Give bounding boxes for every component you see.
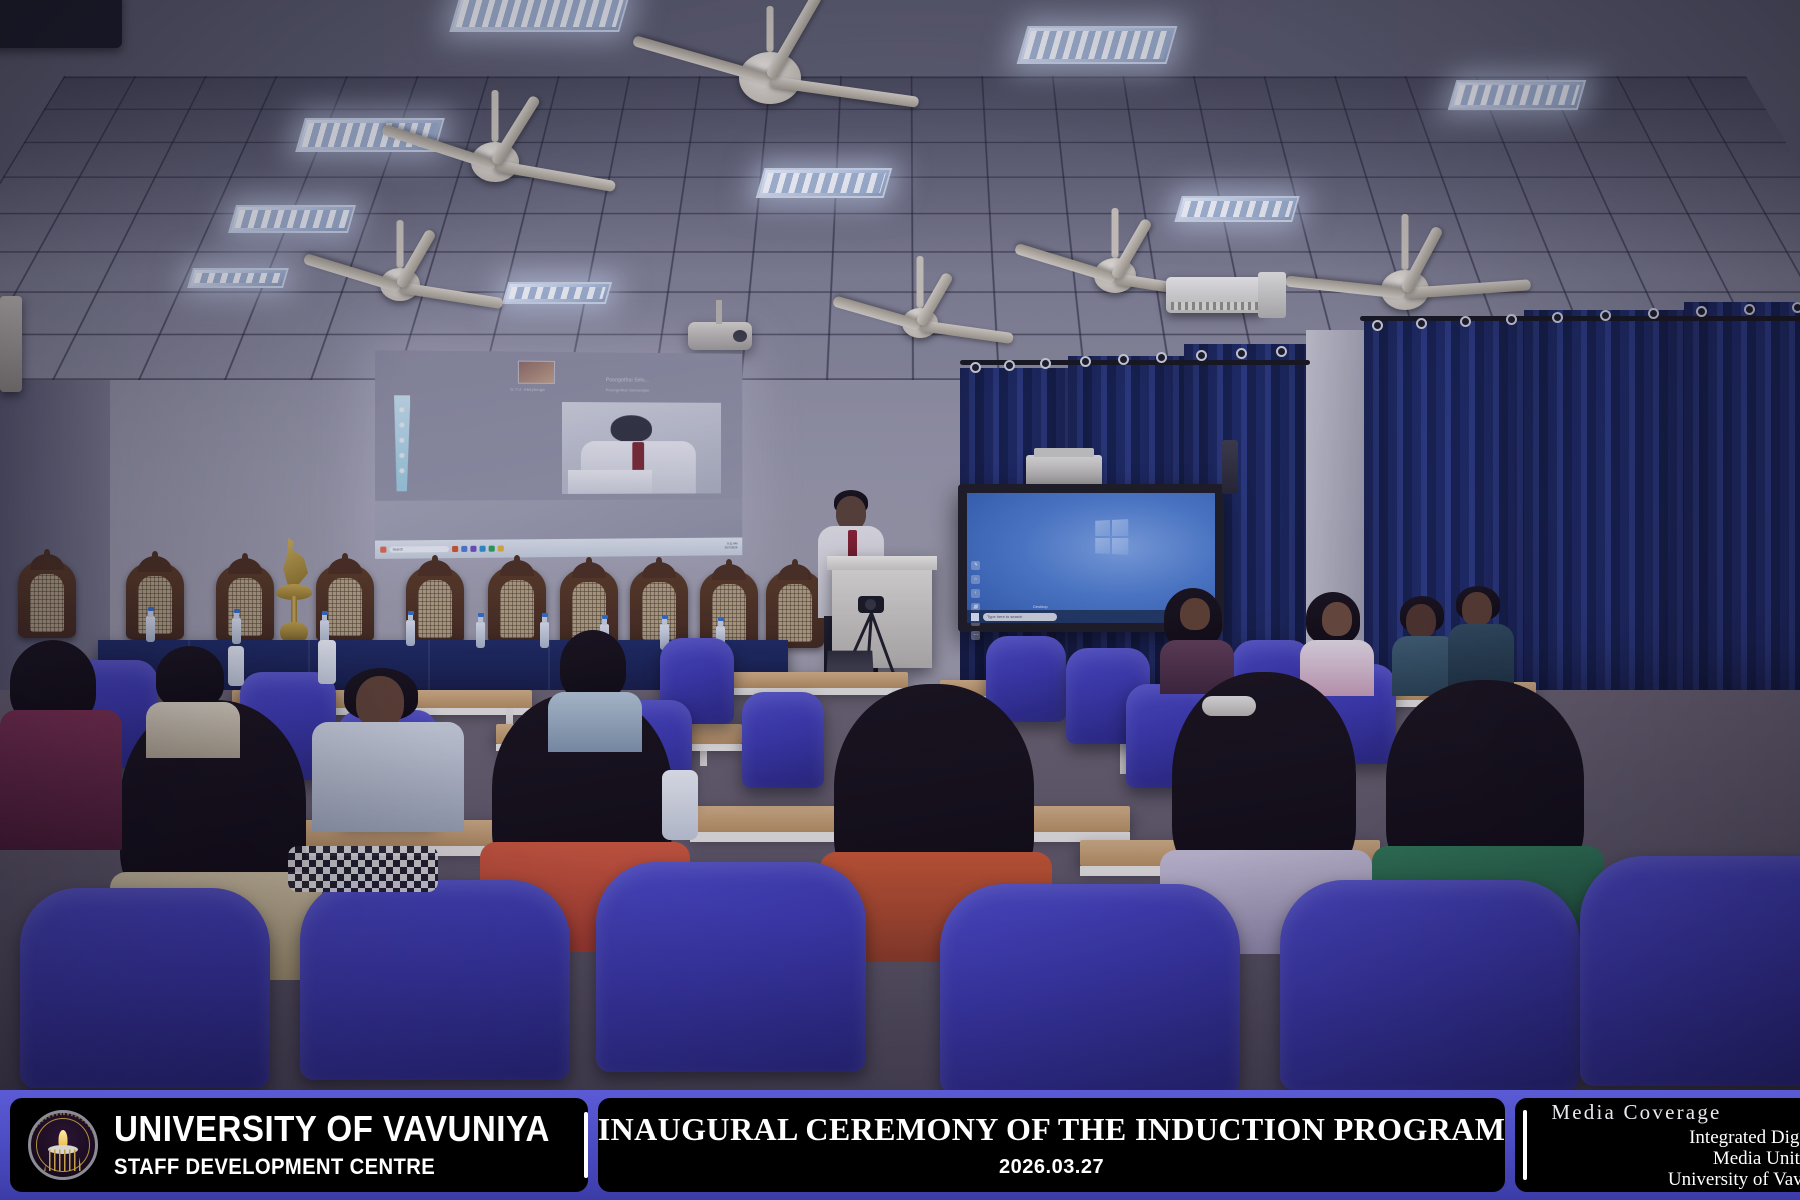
lamp-peacock-finial bbox=[278, 538, 308, 588]
wall-tv bbox=[0, 0, 122, 48]
light-panel bbox=[502, 282, 612, 304]
curtain-eyelet bbox=[1506, 314, 1517, 325]
clock-date: 3/27/2026 bbox=[725, 545, 738, 549]
banner-left-panel: UNIVERSITY OF VAVUNIYA STAFF DEVELOPMENT… bbox=[10, 1098, 588, 1192]
back-icon[interactable]: ‹ bbox=[971, 589, 980, 598]
app-icon bbox=[470, 546, 476, 552]
water-bottle bbox=[146, 616, 155, 642]
banner-divider bbox=[1523, 1110, 1527, 1180]
light-panel bbox=[1174, 196, 1299, 222]
projected-taskbar: Search 9:11 AM 3/27/2026 bbox=[375, 537, 742, 559]
water-bottle bbox=[232, 618, 241, 644]
audience-chair-foreground bbox=[20, 888, 270, 1088]
university-crest-icon bbox=[28, 1110, 98, 1180]
handbag bbox=[288, 846, 438, 892]
audience-chair-foreground bbox=[1580, 856, 1800, 1086]
curtain-eyelet bbox=[1004, 360, 1015, 371]
attendee-seated bbox=[548, 630, 640, 740]
light-panel bbox=[756, 168, 893, 198]
banner-university-block: UNIVERSITY OF VAVUNIYA STAFF DEVELOPMENT… bbox=[114, 1111, 588, 1180]
media-unit-line-1: Integrated Digital bbox=[1577, 1127, 1800, 1148]
app-icon bbox=[498, 545, 504, 551]
more-icon[interactable]: ⋯ bbox=[971, 631, 980, 640]
curtain-eyelet bbox=[1416, 318, 1427, 329]
media-unit-line-3: University of Vavuniya bbox=[1577, 1169, 1800, 1190]
water-bottle-desk bbox=[662, 770, 698, 840]
event-date: 2026.03.27 bbox=[999, 1156, 1104, 1179]
curtain-eyelet bbox=[1236, 348, 1247, 359]
app-icon bbox=[461, 546, 467, 552]
participant-name-2: Poongothai Selv... bbox=[606, 377, 649, 383]
curtain-eyelet bbox=[1792, 302, 1800, 313]
curtain-panel bbox=[1684, 302, 1800, 724]
ceiling-fan bbox=[300, 250, 500, 328]
taskbar-search[interactable]: Search bbox=[389, 546, 449, 553]
smartboard-side-speaker bbox=[1222, 440, 1238, 494]
remote-speaker-head bbox=[610, 415, 651, 442]
projection-sidebar bbox=[394, 395, 410, 491]
light-panel bbox=[187, 268, 289, 288]
attendee bbox=[1448, 586, 1512, 684]
smartboard-search-input[interactable]: Type here to search bbox=[983, 613, 1057, 621]
presenter-head bbox=[836, 496, 866, 530]
water-bottle bbox=[476, 622, 485, 648]
curtain-eyelet bbox=[1696, 306, 1707, 317]
curtain-panel bbox=[1524, 310, 1684, 724]
audience-chair-foreground bbox=[596, 862, 866, 1072]
air-conditioner bbox=[1166, 277, 1264, 313]
banner-right-panel: Media Coverage Integrated Digital Media … bbox=[1515, 1098, 1800, 1192]
attendee bbox=[1392, 596, 1456, 690]
smartboard-side-rail[interactable]: ✎ ⌂ ‹ ▦ ✐ ⋯ bbox=[971, 561, 981, 640]
start-button-icon[interactable] bbox=[971, 613, 979, 621]
curtain-eyelet bbox=[1648, 308, 1659, 319]
curtain-eyelet bbox=[1118, 354, 1129, 365]
curtain-eyelet bbox=[1040, 358, 1051, 369]
video-conference-view: D.T.U. Abeytunga Poongothai Selv... Poon… bbox=[375, 350, 742, 500]
water-bottle-desk bbox=[228, 646, 244, 686]
electrical-box bbox=[1258, 272, 1286, 318]
ceiling-fan bbox=[620, 28, 920, 138]
curtain-eyelet bbox=[1552, 312, 1563, 323]
home-icon[interactable]: ⌂ bbox=[971, 575, 980, 584]
wall-speaker bbox=[0, 296, 22, 392]
attendee-seated bbox=[312, 668, 462, 828]
attendee-seated bbox=[146, 646, 238, 746]
audience-chair-foreground bbox=[1280, 880, 1580, 1090]
curtain-eyelet bbox=[1196, 350, 1207, 361]
curtain-eyelet bbox=[1744, 304, 1755, 315]
brass-oil-lamp bbox=[272, 538, 316, 650]
light-panel bbox=[1448, 80, 1587, 110]
curtain-eyelet bbox=[1276, 346, 1287, 357]
windows-logo-icon bbox=[1095, 519, 1128, 555]
audience-chair-foreground bbox=[300, 880, 570, 1080]
ceiling-projector bbox=[688, 322, 752, 350]
audience-chair bbox=[742, 692, 824, 788]
attendee-seated bbox=[0, 640, 120, 840]
video-camera bbox=[858, 596, 884, 613]
light-panel bbox=[228, 205, 356, 233]
curtain-eyelet bbox=[1600, 310, 1611, 321]
university-name: UNIVERSITY OF VAVUNIYA bbox=[114, 1111, 550, 1147]
projection-screen: D.T.U. Abeytunga Poongothai Selv... Poon… bbox=[375, 350, 742, 559]
audience-chair-foreground bbox=[940, 884, 1240, 1094]
app-icon bbox=[480, 545, 486, 551]
participant-name-1: D.T.U. Abeytunga bbox=[510, 386, 544, 391]
water-bottle-desk bbox=[318, 640, 336, 684]
event-banner: UNIVERSITY OF VAVUNIYA STAFF DEVELOPMENT… bbox=[0, 1090, 1800, 1200]
printer bbox=[1026, 455, 1102, 487]
light-panel bbox=[1017, 26, 1178, 64]
media-coverage-heading: Media Coverage bbox=[1551, 1100, 1800, 1125]
photograph-scene: D.T.U. Abeytunga Poongothai Selv... Poon… bbox=[0, 0, 1800, 1200]
curtain-eyelet bbox=[1156, 352, 1167, 363]
annotate-icon[interactable]: ✎ bbox=[971, 561, 980, 570]
remote-speaker-tie bbox=[633, 443, 644, 474]
curtain-eyelet bbox=[1460, 316, 1471, 327]
water-bottle bbox=[406, 620, 415, 646]
curtain-eyelet bbox=[970, 362, 981, 373]
media-unit-line-2: Media Unit bbox=[1577, 1148, 1800, 1169]
curtain-eyelet bbox=[1372, 320, 1383, 331]
hair-clip bbox=[1202, 696, 1256, 716]
light-panel bbox=[449, 0, 630, 32]
media-coverage-block: Media Coverage Integrated Digital Media … bbox=[1551, 1100, 1800, 1191]
desktop-shortcut-label: Desktop bbox=[1033, 604, 1048, 609]
event-title: INAUGURAL CEREMONY OF THE INDUCTION PROG… bbox=[598, 1111, 1506, 1148]
taskbar-clock: 9:11 AM 3/27/2026 bbox=[725, 543, 738, 550]
remote-podium bbox=[568, 470, 651, 494]
university-unit: STAFF DEVELOPMENT CENTRE bbox=[114, 1154, 550, 1180]
app-icon bbox=[489, 545, 495, 551]
projector-lens bbox=[733, 330, 747, 342]
main-video-tile bbox=[562, 402, 721, 493]
media-unit-lines: Integrated Digital Media Unit University… bbox=[1577, 1127, 1800, 1191]
banner-center-panel: INAUGURAL CEREMONY OF THE INDUCTION PROG… bbox=[598, 1098, 1506, 1192]
weather-icon bbox=[380, 546, 386, 552]
speaker-name-label: Poongothai Selvarajan bbox=[606, 387, 650, 392]
app-icon bbox=[452, 546, 458, 552]
ceiling-fan bbox=[370, 120, 620, 210]
curtain-eyelet bbox=[1080, 356, 1091, 367]
banner-divider bbox=[584, 1112, 588, 1178]
participant-thumbnail bbox=[518, 360, 555, 384]
projector-mount bbox=[716, 300, 722, 324]
